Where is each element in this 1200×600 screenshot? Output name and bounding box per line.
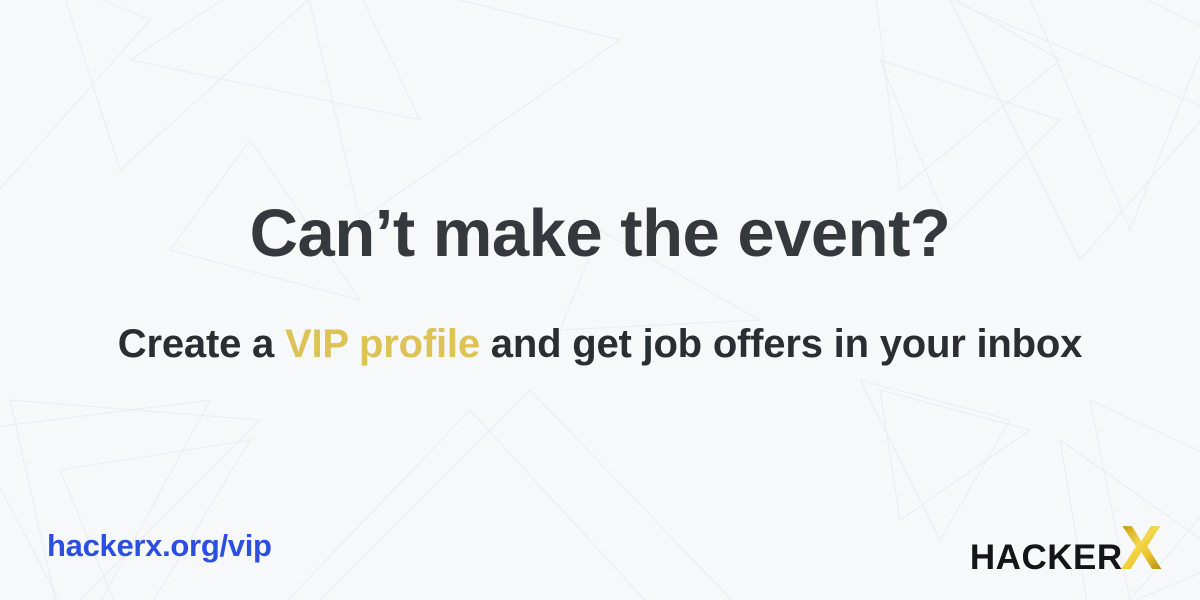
logo-wordmark: HACKER bbox=[970, 540, 1123, 575]
page-title: Can’t make the event? bbox=[0, 196, 1200, 271]
subtitle: Create a VIP profile and get job offers … bbox=[0, 320, 1200, 368]
subtitle-suffix: and get job offers in your inbox bbox=[480, 322, 1082, 366]
subtitle-highlight-vip-profile: VIP profile bbox=[285, 322, 480, 366]
logo-x-icon: X bbox=[1121, 518, 1162, 580]
hackerx-logo: HACKER X bbox=[970, 518, 1162, 580]
promo-slide: Can’t make the event? Create a VIP profi… bbox=[0, 0, 1200, 600]
subtitle-prefix: Create a bbox=[118, 322, 285, 366]
vip-signup-link[interactable]: hackerx.org/vip bbox=[47, 528, 272, 564]
slide-content: Can’t make the event? Create a VIP profi… bbox=[0, 0, 1200, 600]
